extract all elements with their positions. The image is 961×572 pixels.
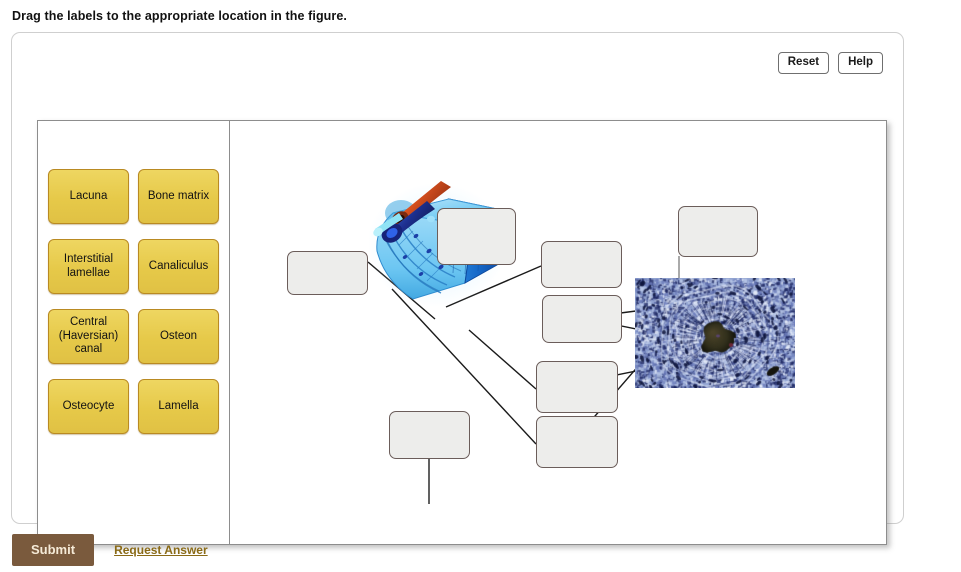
label-chip-central-haversian-canal[interactable]: Central (Haversian) canal: [48, 309, 129, 364]
label-chip-lacuna[interactable]: Lacuna: [48, 169, 129, 224]
drop-target-8[interactable]: [678, 206, 758, 257]
label-bank: Lacuna Bone matrix Interstitial lamellae…: [46, 169, 229, 434]
request-answer-link[interactable]: Request Answer: [114, 543, 208, 557]
label-chip-canaliculus[interactable]: Canaliculus: [138, 239, 219, 294]
label-chip-bone-matrix[interactable]: Bone matrix: [138, 169, 219, 224]
drop-target-1[interactable]: [287, 251, 368, 295]
label-chip-interstitial-lamellae[interactable]: Interstitial lamellae: [48, 239, 129, 294]
drag-drop-activity: Lacuna Bone matrix Interstitial lamellae…: [37, 120, 887, 545]
help-button[interactable]: Help: [838, 52, 883, 74]
page-title: Drag the labels to the appropriate locat…: [12, 9, 347, 23]
drop-target-7[interactable]: [389, 411, 470, 459]
panel-toolbar: Reset Help: [778, 52, 883, 74]
drop-target-6[interactable]: [536, 416, 618, 468]
reset-button[interactable]: Reset: [778, 52, 829, 74]
label-chip-lamella[interactable]: Lamella: [138, 379, 219, 434]
drop-target-3[interactable]: [541, 241, 622, 288]
figure-stage: [230, 121, 887, 544]
bone-cross-section-micrograph: [635, 278, 795, 388]
drop-target-4[interactable]: [542, 295, 622, 343]
drop-target-5[interactable]: [536, 361, 618, 413]
answer-footer: Submit Request Answer: [12, 534, 208, 566]
drop-target-2[interactable]: [437, 208, 516, 265]
label-chip-osteon[interactable]: Osteon: [138, 309, 219, 364]
submit-button[interactable]: Submit: [12, 534, 94, 566]
question-panel: Reset Help Lacuna Bone matrix Interstiti…: [11, 32, 904, 524]
label-chip-osteocyte[interactable]: Osteocyte: [48, 379, 129, 434]
